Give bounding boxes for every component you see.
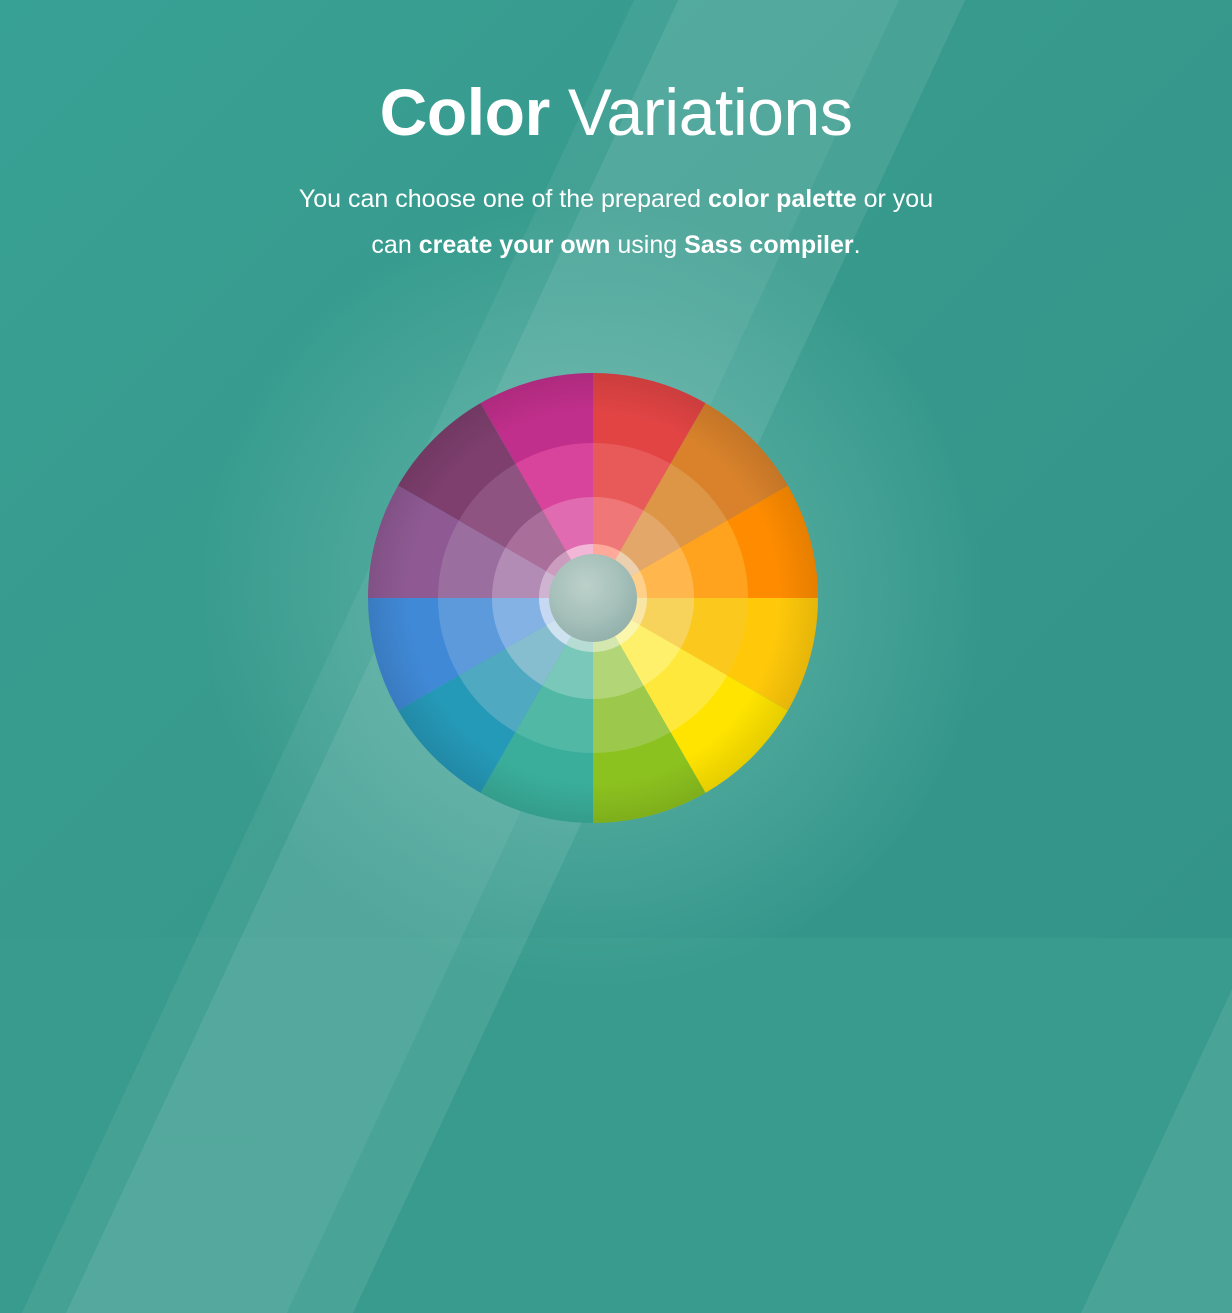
subtitle-bold-color-palette: color palette [708, 185, 857, 213]
subtitle-line2-part1: can [371, 231, 418, 259]
subtitle-line2-part3: . [854, 231, 861, 259]
subtitle-line2-part2: using [610, 231, 684, 259]
slide-stage: Color Variations You can choose one of t… [0, 0, 1232, 938]
page-title-emphasis: Color [380, 75, 550, 149]
subtitle-line1-part2: or you [857, 185, 933, 213]
page-title: Color Variations [0, 72, 1232, 152]
color-wheel-hub[interactable] [549, 554, 637, 642]
subtitle-bold-create-your-own: create your own [419, 231, 611, 259]
page-title-rest: Variations [550, 75, 853, 149]
subtitle-line1-part1: You can choose one of the prepared [299, 185, 708, 213]
color-wheel-graphic[interactable] [368, 373, 818, 823]
subtitle-bold-sass-compiler: Sass compiler [684, 231, 854, 259]
color-wheel[interactable] [368, 373, 818, 823]
page-subtitle: You can choose one of the prepared color… [0, 176, 1232, 268]
